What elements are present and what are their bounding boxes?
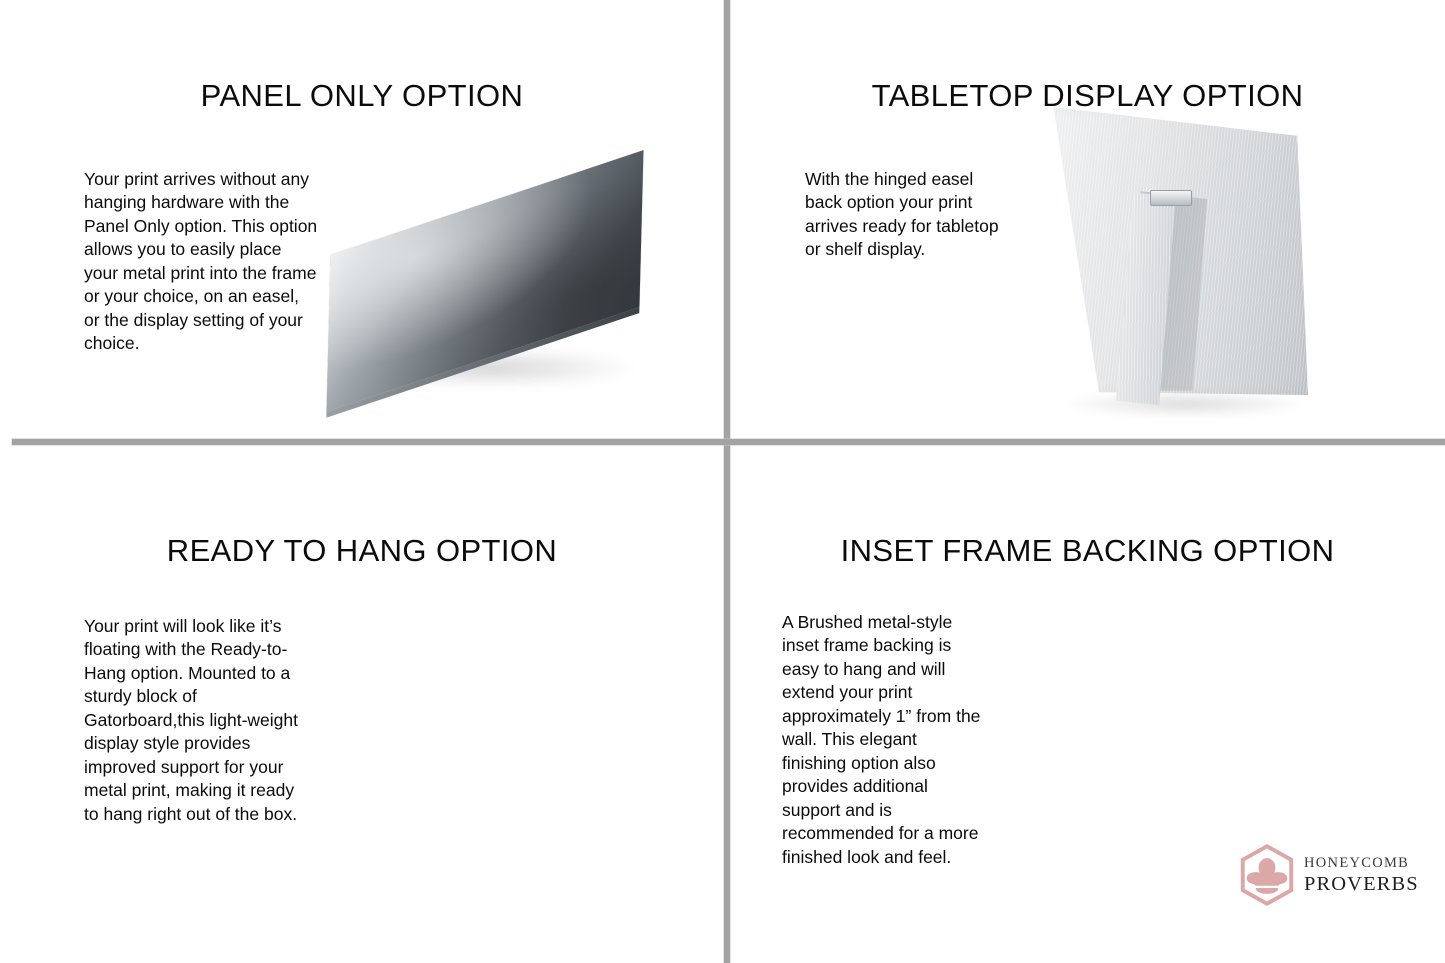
horizontal-divider [12,439,1445,445]
panel-only-title: PANEL ONLY OPTION [0,78,724,114]
easel-back-panel-illustration [1010,95,1370,425]
metal-print-options-poster: PANEL ONLY OPTION Your print arrives wit… [0,0,1445,963]
hexagon-bee-icon [1238,844,1296,906]
metal-panel-sheet-illustration [300,140,700,430]
inset-frame-description: A Brushed metal-style inset frame backin… [782,611,982,870]
panel-only-description: Your print arrives without any hanging h… [84,168,319,356]
brand-name-bottom: PROVERBS [1304,874,1419,895]
easel-hinge [1150,190,1192,206]
quadrant-panel-only: PANEL ONLY OPTION Your print arrives wit… [0,0,724,439]
easel-ground-shadow [1060,391,1310,417]
tabletop-description: With the hinged easel back option your p… [805,168,1015,262]
brand-name-top: HONEYCOMB [1304,856,1419,871]
brand-wordmark: HONEYCOMB PROVERBS [1304,856,1419,894]
ready-to-hang-description: Your print will look like it’s floating … [84,615,299,827]
quadrant-ready-to-hang: READY TO HANG OPTION Your print will loo… [0,445,724,963]
ready-to-hang-title: READY TO HANG OPTION [0,533,724,569]
brand-logo: HONEYCOMB PROVERBS [1238,840,1428,910]
quadrant-tabletop-display: TABLETOP DISPLAY OPTION With the hinged … [730,0,1445,439]
vertical-divider [724,0,730,963]
inset-frame-title: INSET FRAME BACKING OPTION [730,533,1445,569]
